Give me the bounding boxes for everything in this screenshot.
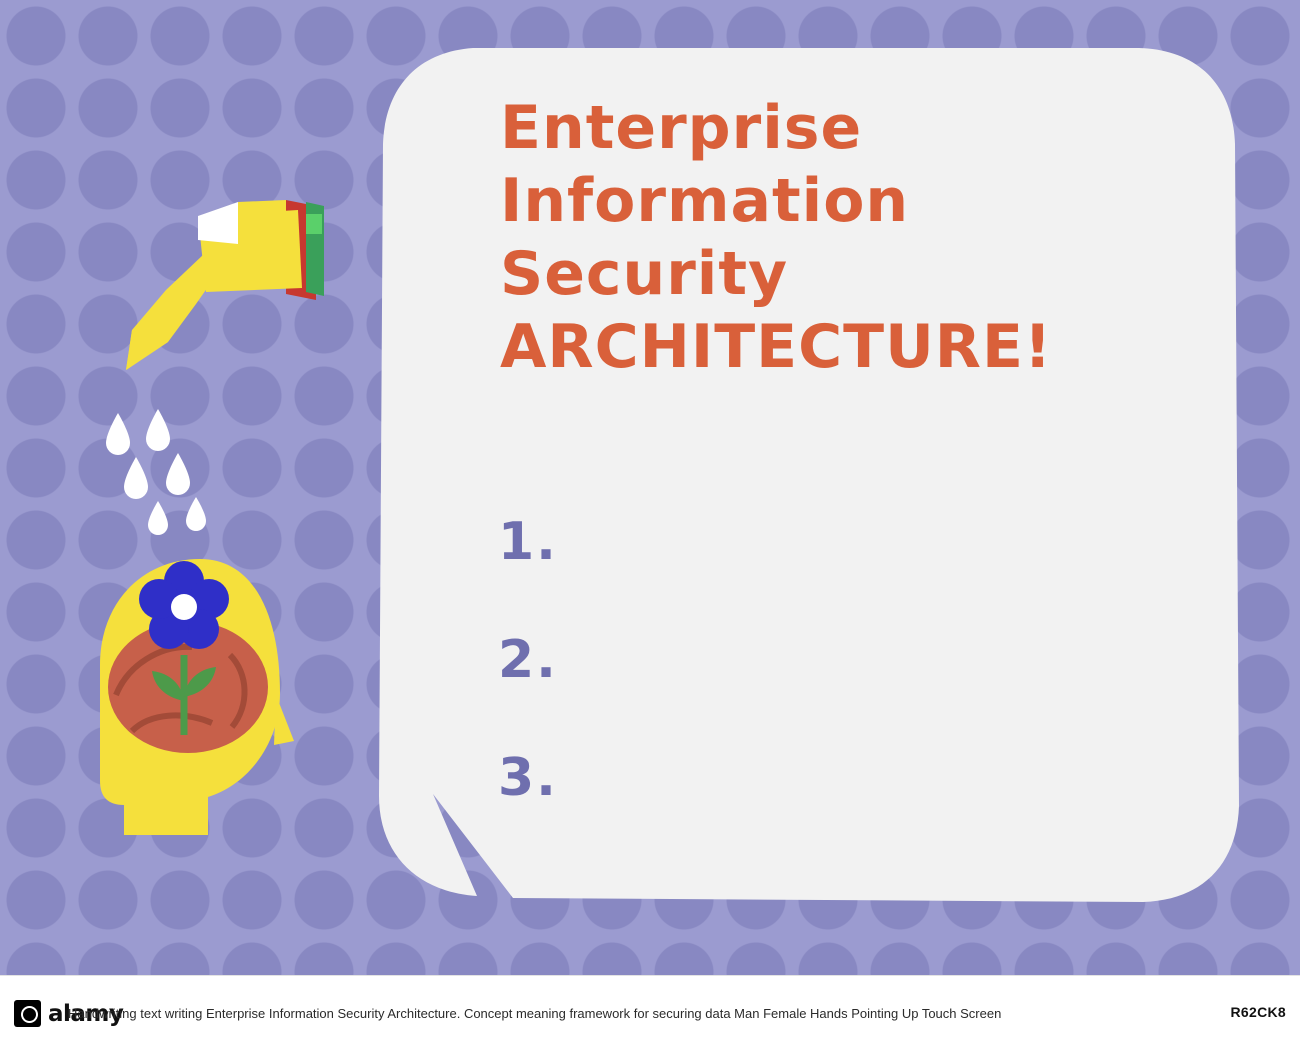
list-item: 1. <box>498 483 698 601</box>
list-item: 2. <box>498 601 698 719</box>
title-line-2: Information <box>500 165 1180 238</box>
numbered-list: 1. 2. 3. <box>498 483 698 837</box>
list-item: 3. <box>498 719 698 837</box>
title-block: Enterprise Information Security ARCHITEC… <box>500 92 1180 384</box>
water-drops-icon <box>100 405 220 540</box>
head-brain-flower-icon <box>80 545 320 855</box>
image-id: R62CK8 <box>1231 1004 1287 1020</box>
alamy-mark-icon <box>14 1000 41 1027</box>
title-line-4: ARCHITECTURE! <box>500 311 1180 384</box>
title-line-1: Enterprise <box>500 92 1180 165</box>
title-line-3: Security <box>500 238 1180 311</box>
watering-can-icon <box>110 180 350 390</box>
image-caption: Handwriting text writing Enterprise Info… <box>68 1004 1001 1023</box>
illustration-canvas: Enterprise Information Security ARCHITEC… <box>0 0 1300 975</box>
